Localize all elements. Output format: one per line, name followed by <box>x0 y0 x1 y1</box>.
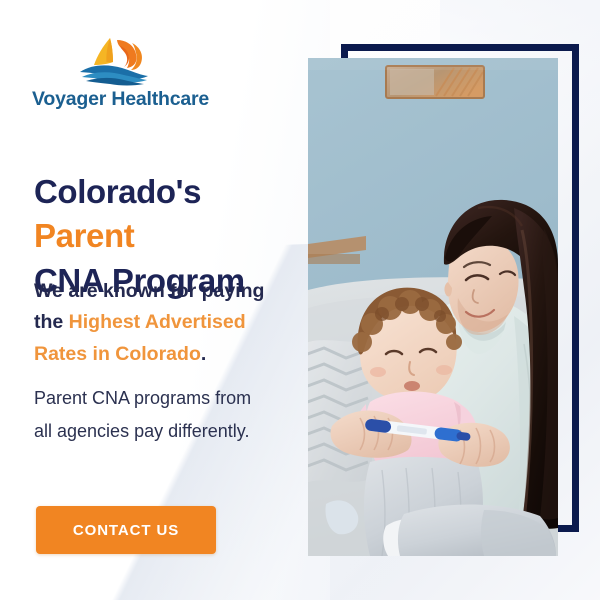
sailboat-waves-icon <box>70 34 160 86</box>
brand-wordmark: Voyager Healthcare <box>32 88 282 111</box>
ad-canvas: Voyager Healthcare Colorado's Parent CNA… <box>0 0 600 600</box>
hero-photo <box>308 58 558 556</box>
subhead-plain-tail: . <box>201 343 206 365</box>
subheadline: We are known for paying the Highest Adve… <box>34 276 292 371</box>
mother-and-baby-thermometer-illustration <box>308 58 558 556</box>
headline-line1-plain: Colorado's <box>34 173 201 210</box>
headline-line1-accent: Parent <box>34 217 134 254</box>
brand-logo[interactable]: Voyager Healthcare <box>32 34 282 111</box>
body-paragraph: Parent CNA programs from all agencies pa… <box>34 382 274 449</box>
contact-us-button[interactable]: CONTACT US <box>36 506 216 554</box>
